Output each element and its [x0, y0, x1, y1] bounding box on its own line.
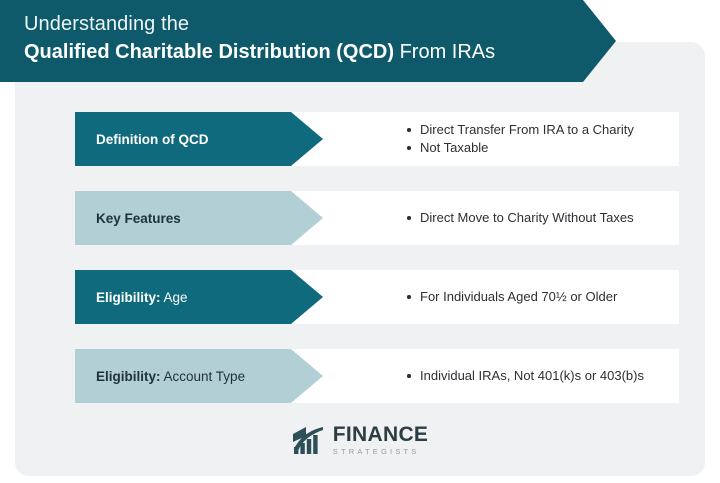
info-row-list: Definition of QCD Direct Transfer From I… — [75, 112, 679, 403]
table-row: Definition of QCD Direct Transfer From I… — [75, 112, 679, 166]
row-bullets: Direct Move to Charity Without Taxes — [323, 191, 679, 245]
page-title-line-1: Understanding the — [24, 11, 616, 38]
page-title-emphasis: Qualified Charitable Distribution (QCD) — [24, 41, 394, 63]
row-label-rest: Account Type — [161, 369, 246, 384]
row-label-key-features: Key Features — [75, 191, 323, 245]
row-bullets: For Individuals Aged 70½ or Older — [323, 270, 679, 324]
logo-tagline: STRATEGISTS — [333, 446, 428, 457]
brand-logo: FINANCE STRATEGISTS — [0, 420, 720, 460]
header-banner: Understanding the Qualified Charitable D… — [0, 0, 616, 82]
row-label-text: Eligibility: Account Type — [96, 368, 245, 385]
row-label-rest: Age — [161, 290, 188, 305]
logo-wordmark: FINANCE STRATEGISTS — [333, 424, 428, 457]
row-label-definition-of-qcd: Definition of QCD — [75, 112, 323, 166]
row-bullets: Direct Transfer From IRA to a Charity No… — [323, 112, 679, 166]
table-row: Key Features Direct Move to Charity With… — [75, 191, 679, 245]
list-item: Direct Transfer From IRA to a Charity — [407, 121, 679, 139]
row-label-strong: Key Features — [96, 211, 181, 226]
table-row: Eligibility: Account Type Individual IRA… — [75, 349, 679, 403]
table-row: Eligibility: Age For Individuals Aged 70… — [75, 270, 679, 324]
row-label-text: Key Features — [96, 210, 181, 227]
list-item: Individual IRAs, Not 401(k)s or 403(b)s — [407, 367, 679, 385]
row-label-eligibility-age: Eligibility: Age — [75, 270, 323, 324]
list-item: Not Taxable — [407, 139, 679, 157]
page-title-suffix: From IRAs — [394, 41, 495, 63]
row-label-strong: Definition of QCD — [96, 132, 208, 147]
row-bullets: Individual IRAs, Not 401(k)s or 403(b)s — [323, 349, 679, 403]
page-title-line-2: Qualified Charitable Distribution (QCD) … — [24, 38, 616, 66]
row-label-text: Eligibility: Age — [96, 289, 188, 306]
row-label-text: Definition of QCD — [96, 131, 208, 148]
row-label-eligibility-account-type: Eligibility: Account Type — [75, 349, 323, 403]
list-item: Direct Move to Charity Without Taxes — [407, 209, 679, 227]
list-item: For Individuals Aged 70½ or Older — [407, 288, 679, 306]
row-label-strong: Eligibility: — [96, 290, 161, 305]
row-label-strong: Eligibility: — [96, 369, 161, 384]
logo-name: FINANCE — [333, 424, 428, 445]
bar-chart-swoosh-icon — [292, 425, 326, 455]
